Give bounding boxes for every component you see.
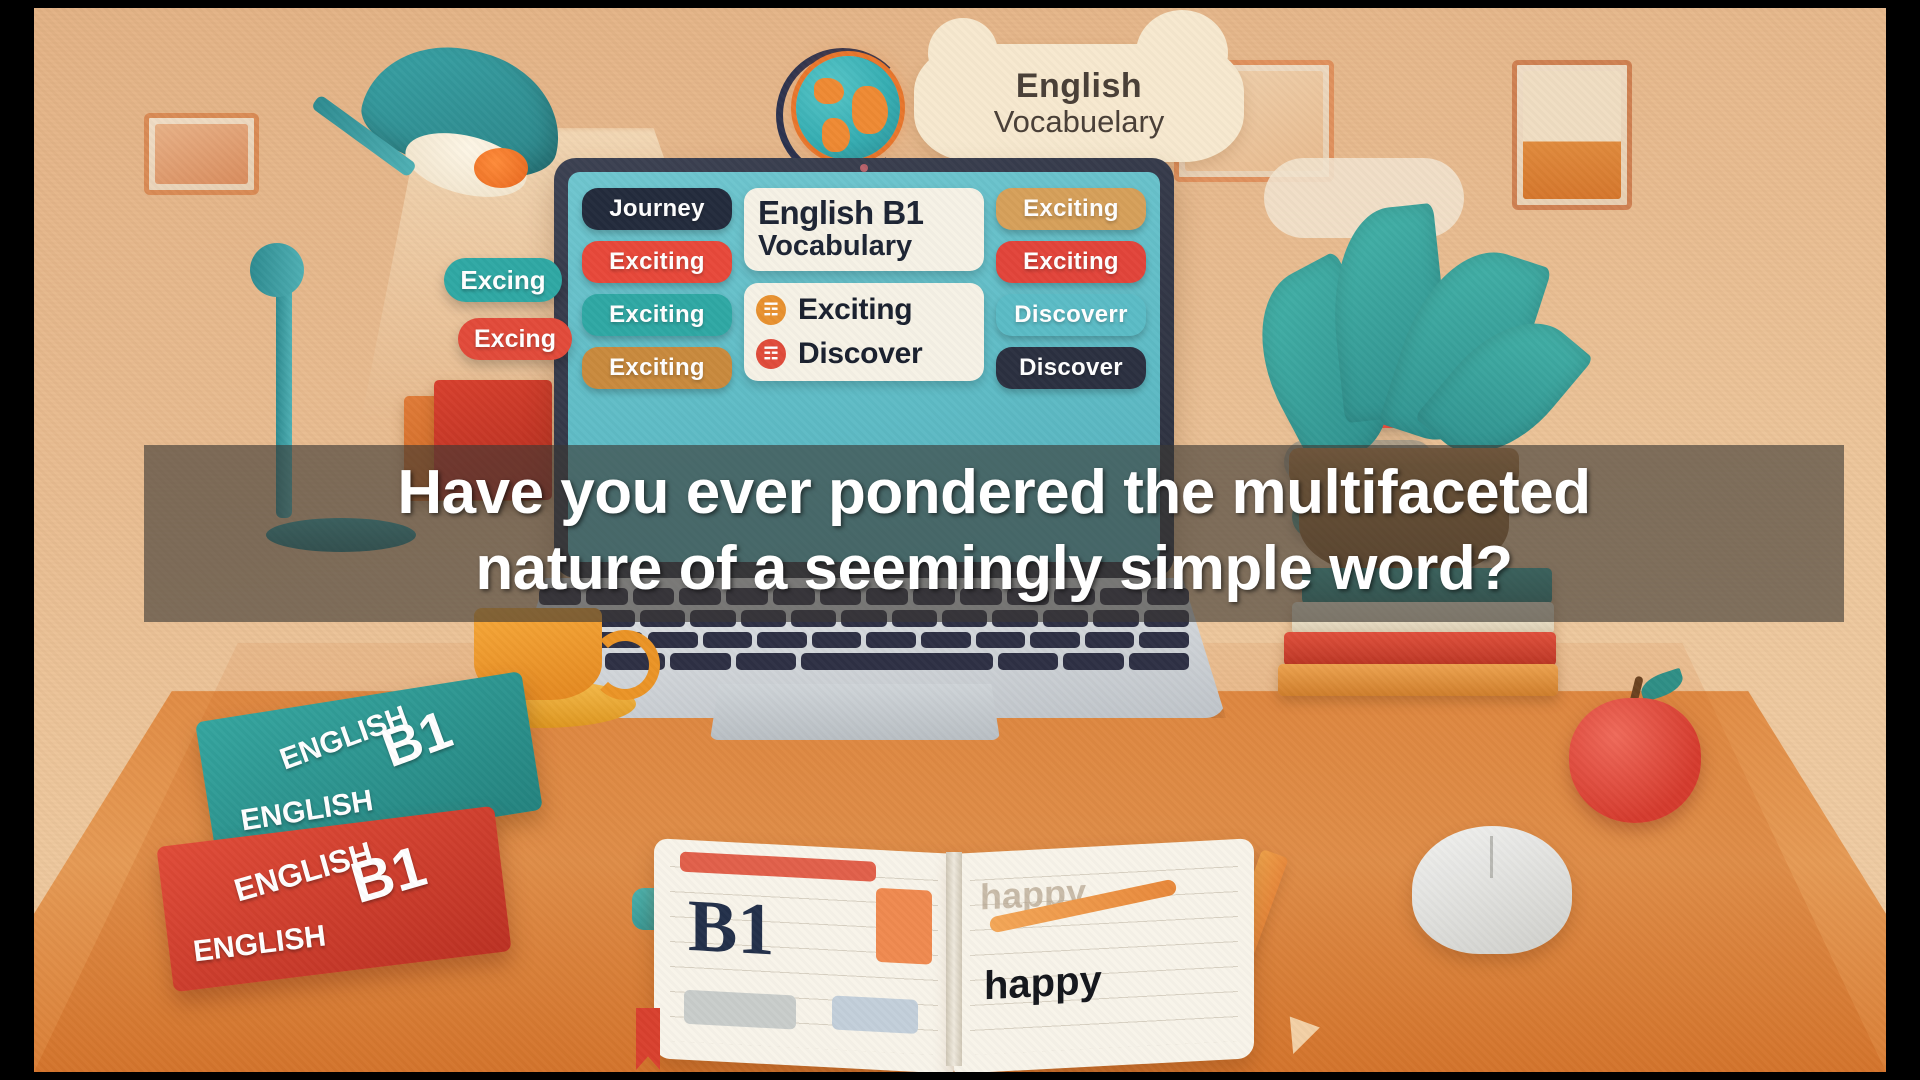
floating-badge-excing-teal[interactable]: Excing — [444, 258, 562, 302]
subtitle-overlay: Have you ever pondered the multifaceted … — [144, 445, 1844, 622]
keyboard-key — [757, 632, 807, 649]
notebook-right-page: happy happy — [954, 838, 1254, 1072]
apple — [1569, 698, 1701, 823]
floating-badge-excing-red[interactable]: Excing — [458, 318, 572, 360]
vocab-pill[interactable]: Discoverr — [996, 294, 1146, 336]
vocab-pill[interactable]: Exciting — [582, 294, 732, 336]
video-frame: English Vocabuelary Journey Exciting Exc… — [0, 0, 1920, 1080]
keyboard-key — [1129, 653, 1190, 670]
desk-book-red-spine-label: ENGLISH — [191, 919, 328, 969]
notebook-grey-tag — [684, 990, 796, 1030]
vocab-pill[interactable]: Exciting — [582, 347, 732, 389]
keyboard-key — [1030, 632, 1080, 649]
keyboard-key — [998, 653, 1059, 670]
keyboard-key — [812, 632, 862, 649]
wall-picture-left — [144, 113, 259, 195]
screen-title-card: English B1 Vocabulary — [744, 188, 984, 271]
globe-landmass — [822, 118, 850, 152]
wall-picture-left-art — [155, 124, 248, 184]
notebook-blue-tag — [832, 995, 918, 1034]
keyboard-key — [866, 632, 916, 649]
laptop-trackpad[interactable] — [710, 684, 1000, 740]
wall-sign-line1: English — [1016, 67, 1142, 106]
globe-sphere — [796, 56, 900, 160]
keyboard-key — [1085, 632, 1135, 649]
mouse-scroll-line — [1490, 836, 1493, 878]
word-list-label: Discover — [798, 337, 922, 371]
vocab-pill[interactable]: Discover — [996, 347, 1146, 389]
laptop-camera-icon — [860, 164, 868, 172]
screen-title-line2: Vocabulary — [758, 231, 970, 263]
word-list-item[interactable]: ☶ Discover — [756, 337, 972, 371]
lamp-bulb-icon — [474, 148, 528, 188]
notebook-left-page: B1 — [654, 838, 954, 1072]
keyboard-key — [648, 632, 698, 649]
open-notebook: B1 happy happy — [654, 846, 1254, 1072]
screen-word-list: ☶ Exciting ☶ Discover — [744, 283, 984, 381]
scene-illustration: English Vocabuelary Journey Exciting Exc… — [34, 8, 1886, 1072]
keyboard-key — [1139, 632, 1189, 649]
wall-sign-line2: Vocabuelary — [994, 104, 1165, 140]
word-list-item[interactable]: ☶ Exciting — [756, 293, 972, 327]
keyboard-key — [976, 632, 1026, 649]
wall-sign-english-vocabulary: English Vocabuelary — [914, 44, 1244, 162]
list-icon: ☶ — [756, 295, 786, 325]
globe-landmass — [852, 86, 888, 134]
keyboard-key — [736, 653, 797, 670]
notebook-binding — [946, 852, 962, 1066]
notebook-left-word: B1 — [688, 884, 774, 974]
screen-title-line1: English B1 — [758, 196, 970, 231]
keyboard-key — [921, 632, 971, 649]
notebook-right-word: happy — [984, 958, 1102, 1009]
vocab-pill[interactable]: Exciting — [996, 241, 1146, 283]
wall-picture-right — [1512, 60, 1632, 210]
keyboard-key — [801, 653, 993, 670]
wall-picture-right-art — [1523, 71, 1621, 199]
vocab-pill[interactable]: Journey — [582, 188, 732, 230]
globe-landmass — [814, 78, 844, 104]
vocab-pill[interactable]: Exciting — [582, 241, 732, 283]
keyboard-key — [703, 632, 753, 649]
keyboard-key — [1063, 653, 1124, 670]
list-icon: ☶ — [756, 339, 786, 369]
lamp-arm-joint — [250, 243, 304, 297]
vocab-pill[interactable]: Exciting — [996, 188, 1146, 230]
subtitle-line-1: Have you ever pondered the multifaceted — [144, 455, 1844, 531]
stacked-book-orange — [1278, 664, 1558, 696]
subtitle-line-2: nature of a seemingly simple word? — [144, 531, 1844, 607]
word-list-label: Exciting — [798, 293, 912, 327]
notebook-orange-block — [876, 888, 932, 965]
keyboard-key — [670, 653, 731, 670]
stacked-book-red — [1284, 632, 1556, 666]
